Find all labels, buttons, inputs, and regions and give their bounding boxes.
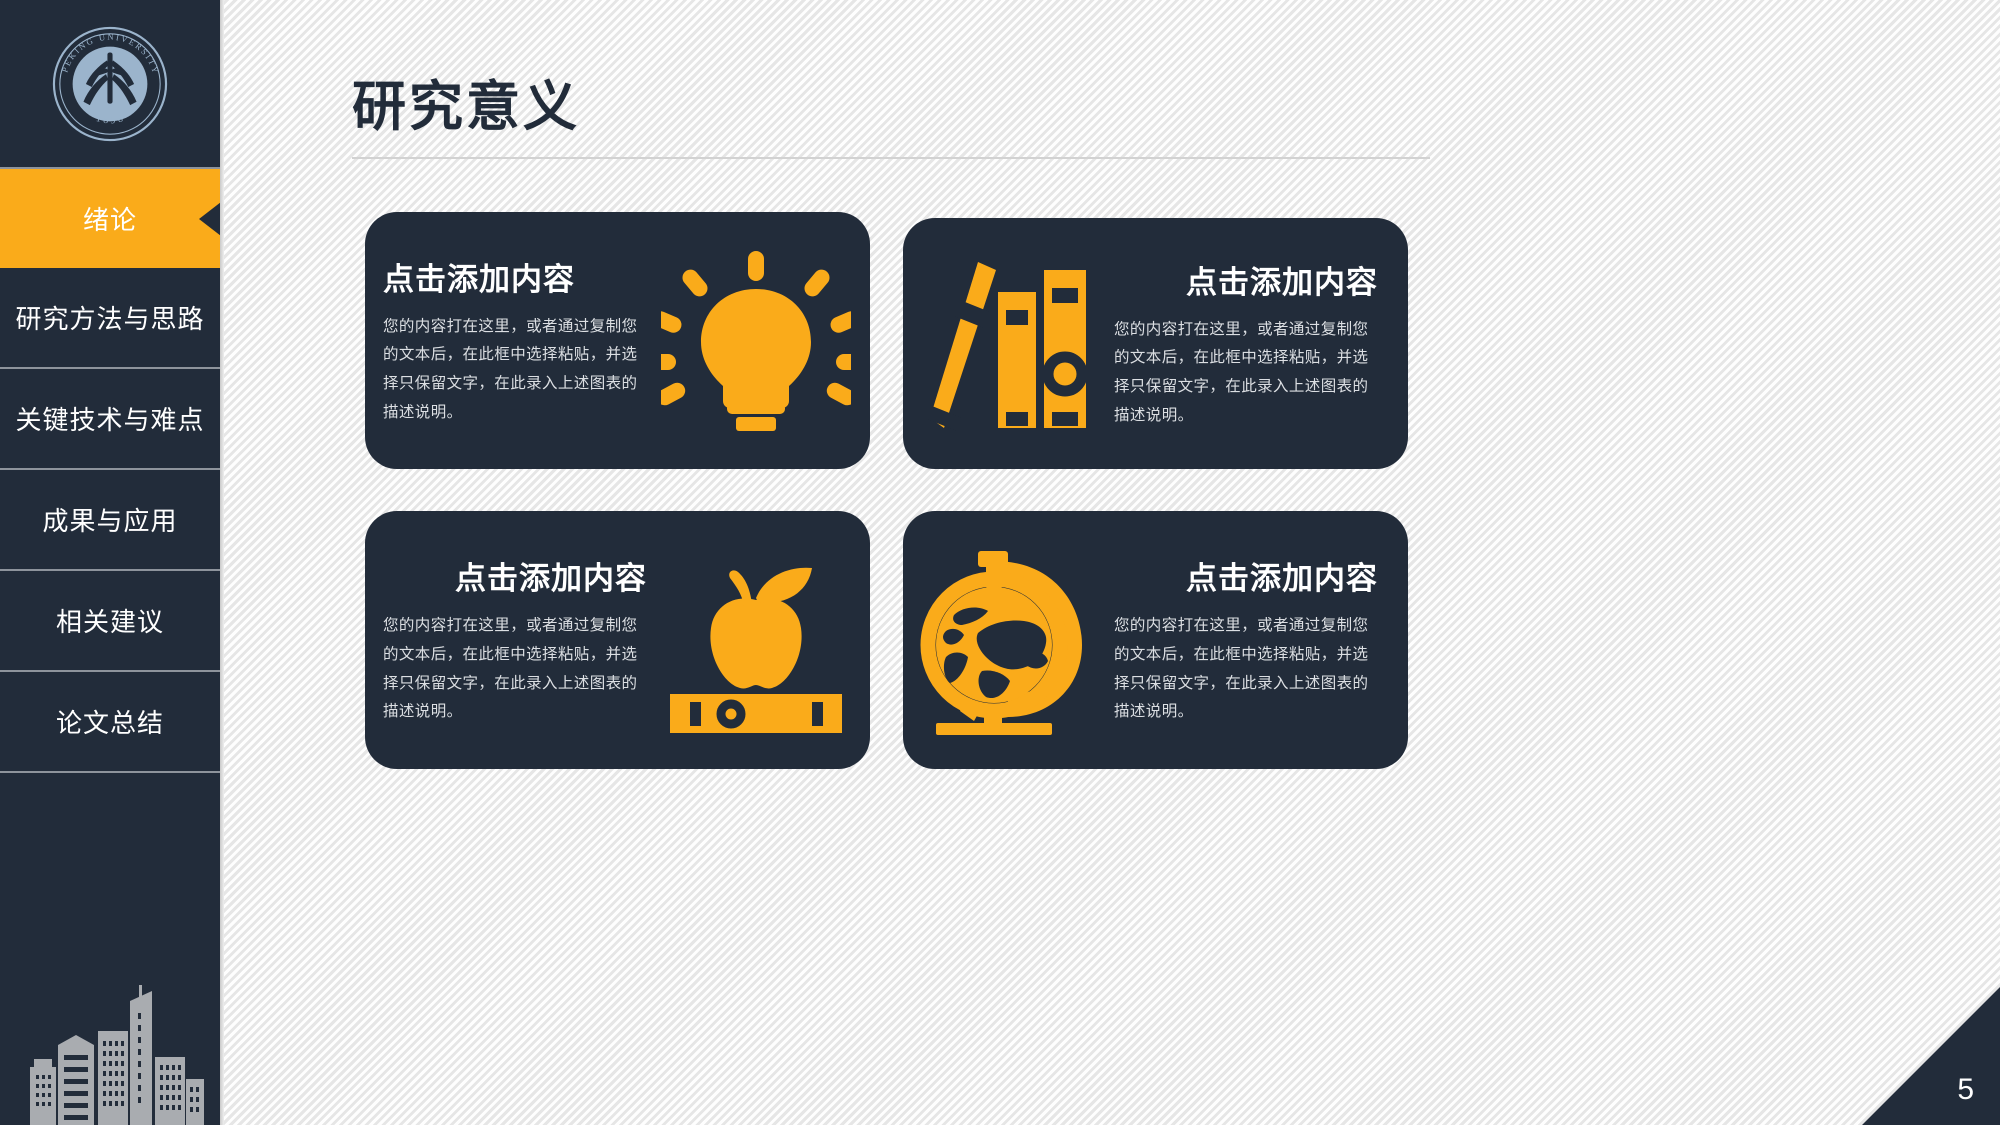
sidebar-item-label: 研究方法与思路 [15, 299, 204, 336]
card-4-body: 您的内容打在这里，或者通过复制您的文本后，在此框中选择粘贴，并选择只保留文字，在… [1114, 612, 1378, 727]
page-title: 研究意义 [352, 62, 580, 141]
sidebar-item-key-tech[interactable]: 关键技术与难点 [0, 369, 220, 470]
content-card-3[interactable]: 点击添加内容 您的内容打在这里，或者通过复制您的文本后，在此框中选择粘贴，并选择… [365, 511, 870, 769]
card-2-body: 您的内容打在这里，或者通过复制您的文本后，在此框中选择粘贴，并选择只保留文字，在… [1114, 316, 1378, 431]
card-3-text: 点击添加内容 您的内容打在这里，或者通过复制您的文本后，在此框中选择粘贴，并选择… [365, 553, 653, 727]
sidebar-item-label: 论文总结 [56, 703, 164, 740]
card-3-body: 您的内容打在这里，或者通过复制您的文本后，在此框中选择粘贴，并选择只保留文字，在… [383, 612, 647, 727]
apple-on-book-icon [653, 548, 858, 733]
card-4-title: 点击添加内容 [1114, 553, 1378, 598]
city-skyline-decoration [0, 985, 220, 1125]
page-number: 5 [1957, 1073, 1974, 1107]
slide-canvas: PEKING UNIVERSITY 1898 绪论 研究方法与思路 关键技术与难… [0, 0, 2000, 1125]
active-indicator-arrow-icon [199, 202, 221, 236]
sidebar-item-suggestions[interactable]: 相关建议 [0, 571, 220, 672]
card-1-text: 点击添加内容 您的内容打在这里，或者通过复制您的文本后，在此框中选择粘贴，并选择… [365, 254, 653, 428]
card-2-title: 点击添加内容 [1114, 257, 1378, 302]
card-1-title: 点击添加内容 [383, 254, 647, 299]
peking-university-logo: PEKING UNIVERSITY 1898 [0, 0, 220, 167]
card-2-text: 点击添加内容 您的内容打在这里，或者通过复制您的文本后，在此框中选择粘贴，并选择… [1108, 257, 1396, 431]
content-card-1[interactable]: 点击添加内容 您的内容打在这里，或者通过复制您的文本后，在此框中选择粘贴，并选择… [365, 212, 870, 469]
content-card-2[interactable]: 点击添加内容 您的内容打在这里，或者通过复制您的文本后，在此框中选择粘贴，并选择… [903, 218, 1408, 469]
lightbulb-icon [653, 251, 858, 431]
content-card-4[interactable]: 点击添加内容 您的内容打在这里，或者通过复制您的文本后，在此框中选择粘贴，并选择… [903, 511, 1408, 769]
sidebar-item-label: 成果与应用 [42, 501, 177, 538]
card-1-body: 您的内容打在这里，或者通过复制您的文本后，在此框中选择粘贴，并选择只保留文字，在… [383, 313, 647, 428]
sidebar-item-label: 绪论 [83, 200, 137, 237]
sidebar-item-label: 相关建议 [56, 602, 164, 639]
sidebar-nav: 绪论 研究方法与思路 关键技术与难点 成果与应用 相关建议 论文总结 [0, 167, 220, 773]
sidebar: PEKING UNIVERSITY 1898 绪论 研究方法与思路 关键技术与难… [0, 0, 220, 1125]
books-icon [903, 256, 1108, 431]
sidebar-item-xulun[interactable]: 绪论 [0, 167, 220, 268]
sidebar-item-label: 关键技术与难点 [15, 400, 204, 437]
desk-globe-icon [903, 545, 1108, 735]
sidebar-item-results[interactable]: 成果与应用 [0, 470, 220, 571]
page-corner-decoration [1862, 987, 2000, 1125]
card-3-title: 点击添加内容 [383, 553, 647, 598]
title-divider [352, 157, 1430, 159]
sidebar-item-research-method[interactable]: 研究方法与思路 [0, 268, 220, 369]
sidebar-item-conclusion[interactable]: 论文总结 [0, 672, 220, 773]
sidebar-edge-divider [220, 0, 224, 1125]
card-4-text: 点击添加内容 您的内容打在这里，或者通过复制您的文本后，在此框中选择粘贴，并选择… [1108, 553, 1396, 727]
